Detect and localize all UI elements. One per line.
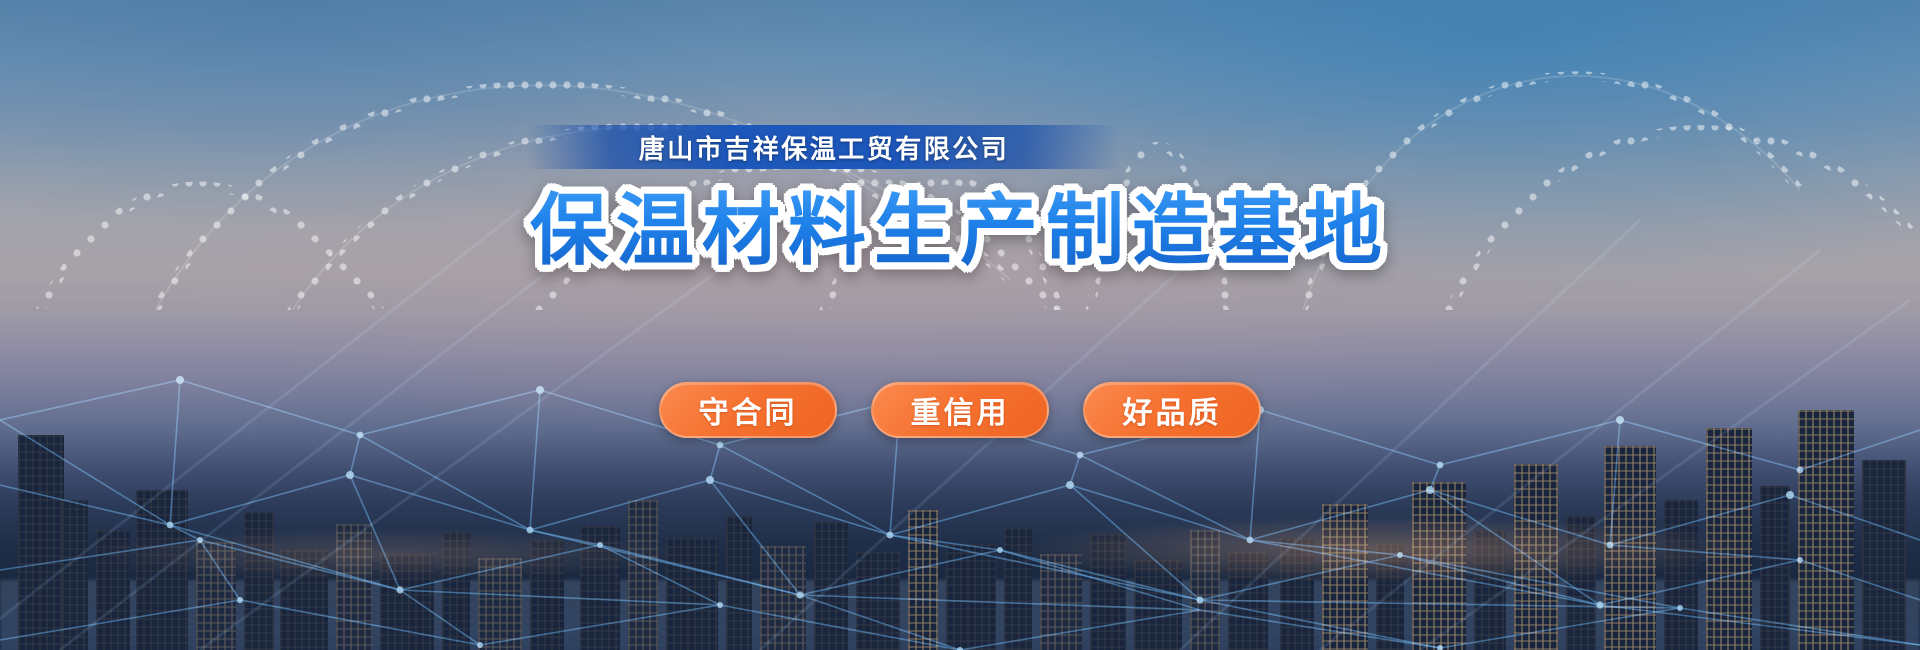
slogan-pill-quality[interactable]: 好品质 (1083, 382, 1261, 438)
slogan-pill-quality-label: 好品质 (1123, 388, 1222, 432)
hero-banner: 唐山市吉祥保温工贸有限公司 保温材料生产制造基地 守合同 重信用 好品质 (0, 0, 1920, 650)
slogan-pill-contract-label: 守合同 (699, 388, 798, 432)
page-title: 保温材料生产制造基地 (0, 182, 1920, 278)
company-name-text: 唐山市吉祥保温工贸有限公司 (639, 129, 1010, 166)
company-name-bar: 唐山市吉祥保温工贸有限公司 (528, 125, 1120, 169)
slogan-pill-credit[interactable]: 重信用 (871, 382, 1049, 438)
banner-content: 唐山市吉祥保温工贸有限公司 保温材料生产制造基地 守合同 重信用 好品质 (0, 0, 1920, 650)
slogan-pill-contract[interactable]: 守合同 (659, 382, 837, 438)
slogan-pill-group: 守合同 重信用 好品质 (0, 382, 1920, 438)
slogan-pill-credit-label: 重信用 (911, 388, 1010, 432)
